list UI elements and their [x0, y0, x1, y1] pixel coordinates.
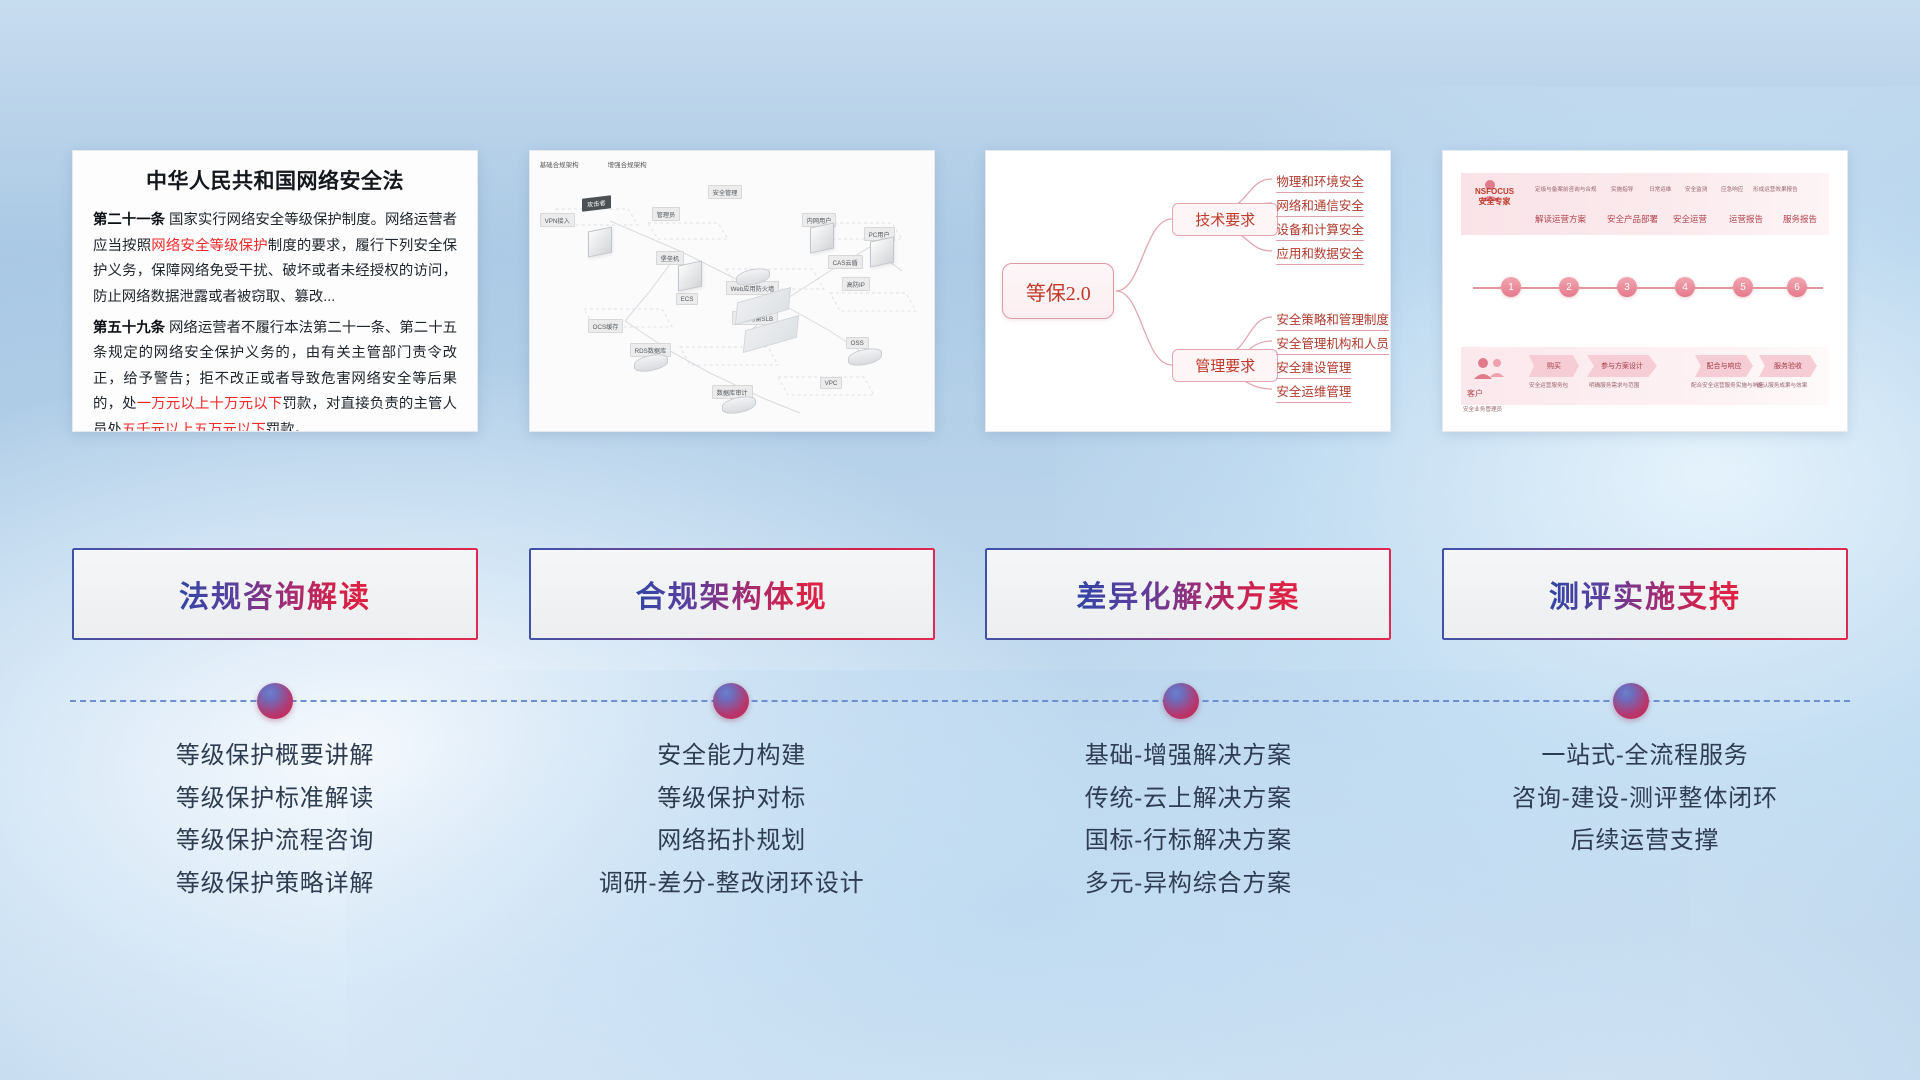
- arch-tag-ecs: ECS: [676, 293, 699, 305]
- arch-tag-security-mgmt: 安全管理: [708, 185, 743, 199]
- arch-tag-ocs: OCS缓存: [588, 319, 624, 333]
- nsfocus-chevron-accept: 服务验收: [1759, 355, 1817, 377]
- list-item[interactable]: 一站式-全流程服务: [1442, 735, 1848, 778]
- pill-assessment-support[interactable]: 测评实施支持: [1442, 548, 1848, 640]
- mindmap-leaf-mgmt-1: 安全策略和管理制度: [1276, 309, 1389, 331]
- pill-label-0: 法规咨询解读: [179, 572, 371, 616]
- nsfocus-step-number-2: 2: [1559, 277, 1579, 297]
- arch-node-3: [810, 222, 834, 253]
- mindmap-root-node: 等保2.0: [1002, 263, 1114, 319]
- arch-tag-oss: OSS: [846, 337, 869, 349]
- nsfocus-brand-line2: 安全专家: [1475, 197, 1514, 207]
- nsfocus-persona-sub: 安全业务管理员: [1463, 405, 1502, 413]
- mindmap-leaf-tech-3: 设备和计算安全: [1276, 219, 1364, 241]
- mindmap-leaf-tech-2: 网络和通信安全: [1276, 195, 1364, 217]
- arch-tag-vpc: VPC: [820, 377, 843, 389]
- mindmap-leaf-mgmt-2: 安全管理机构和人员: [1276, 333, 1389, 355]
- column-differentiated-solution: 基础-增强解决方案 传统-云上解决方案 国标-行标解决方案 多元-异构综合方案: [985, 735, 1391, 995]
- nsfocus-note-2: 配合安全运营服务实施与响应: [1691, 381, 1764, 389]
- nsfocus-chevron-buy: 购买: [1529, 355, 1579, 377]
- arch-header-basic: 基础合规架构: [540, 159, 579, 169]
- arch-tag-cas: CAS云盾: [828, 255, 863, 269]
- nsfocus-persona: 客户: [1467, 389, 1483, 399]
- service-columns: 等级保护概要讲解 等级保护标准解读 等级保护流程咨询 等级保护策略详解 安全能力…: [72, 735, 1848, 995]
- list-item[interactable]: 等级保护概要讲解: [72, 735, 478, 778]
- nsfocus-note-1: 明确服务需求与范围: [1589, 381, 1639, 389]
- nsfocus-step-number-3: 3: [1617, 277, 1637, 297]
- pill-compliance-architecture[interactable]: 合规架构体现: [529, 548, 935, 640]
- nsfocus-step-label-0: 解读运营方案: [1535, 213, 1586, 225]
- law-card-title: 中华人民共和国网络安全法: [93, 165, 457, 195]
- nsfocus-step-number-6: 6: [1787, 277, 1807, 297]
- timeline-dot-2[interactable]: [713, 683, 749, 719]
- pill-regulation-consulting[interactable]: 法规咨询解读: [72, 548, 478, 640]
- nsfocus-service-flow-card[interactable]: NSFOCUS 安全专家 定级与备案前咨询与合规 实施指导 日常运维 安全监测 …: [1442, 150, 1848, 432]
- nsfocus-step-label-2: 安全运营: [1673, 213, 1707, 225]
- nsfocus-step-label-3: 运营报告: [1729, 213, 1763, 225]
- arch-tag-vpn: VPN接入: [540, 213, 575, 227]
- compliance-architecture-card[interactable]: 基础合规架构 增强合规架构: [529, 150, 935, 432]
- nsfocus-chevron-design: 参与方案设计: [1587, 355, 1657, 377]
- column-regulation-consulting: 等级保护概要讲解 等级保护标准解读 等级保护流程咨询 等级保护策略详解: [72, 735, 478, 995]
- arch-tag-bastion: 堡垒机: [656, 251, 685, 265]
- column-compliance-architecture: 安全能力构建 等级保护对标 网络拓扑规划 调研-差分-整改闭环设计: [529, 735, 935, 995]
- arch-node-1: [588, 226, 612, 257]
- list-item[interactable]: 等级保护标准解读: [72, 778, 478, 821]
- nsfocus-note-0: 安全运营服务包: [1529, 381, 1568, 389]
- timeline-dot-1[interactable]: [257, 683, 293, 719]
- nsfocus-small-note-1: 实施指导: [1611, 185, 1633, 193]
- pill-label-1: 合规架构体现: [636, 572, 828, 616]
- nsfocus-step-number-5: 5: [1733, 277, 1753, 297]
- list-item[interactable]: 咨询-建设-测评整体闭环: [1442, 778, 1848, 821]
- law-article-59-fine-person: 五千元以上五万元以下: [122, 422, 266, 432]
- nsfocus-small-note-5: 形成运营效果报告: [1753, 185, 1798, 193]
- mindmap-branch-technical: 技术要求: [1172, 203, 1278, 236]
- nsfocus-small-note-4: 应急响应: [1721, 185, 1743, 193]
- arch-node-2: [678, 260, 702, 291]
- nsfocus-step-label-1: 安全产品部署: [1607, 213, 1658, 225]
- nsfocus-step-number-4: 4: [1675, 277, 1695, 297]
- cards-row: 中华人民共和国网络安全法 第二十一条 国家实行网络安全等级保护制度。网络运营者应…: [72, 150, 1848, 440]
- timeline-dashed-line: [70, 700, 1850, 702]
- law-article-59-number: 第五十九条: [93, 320, 169, 336]
- law-paragraph-59: 第五十九条 网络运营者不履行本法第二十一条、第二十五条规定的网络安全保护义务的，…: [93, 316, 457, 432]
- pill-label-3: 测评实施支持: [1549, 572, 1741, 616]
- mindmap-branch-management: 管理要求: [1172, 349, 1278, 382]
- nsfocus-small-note-3: 安全监测: [1685, 185, 1707, 193]
- law-paragraph-21: 第二十一条 国家实行网络安全等级保护制度。网络运营者应当按照网络安全等级保护制度…: [93, 208, 457, 311]
- cybersecurity-law-card[interactable]: 中华人民共和国网络安全法 第二十一条 国家实行网络安全等级保护制度。网络运营者应…: [72, 150, 478, 432]
- nsfocus-small-note-0: 定级与备案前咨询与合规: [1535, 185, 1597, 193]
- arch-tag-admin: 管理员: [652, 207, 681, 221]
- list-item[interactable]: 调研-差分-整改闭环设计: [529, 863, 935, 906]
- arch-tag-gaofang: 高防IP: [842, 277, 870, 291]
- nsfocus-brand-line1: NSFOCUS: [1475, 187, 1514, 197]
- mindmap-leaf-mgmt-4: 安全运维管理: [1276, 381, 1351, 403]
- arch-node-4: [870, 236, 894, 267]
- pill-label-2: 差异化解决方案: [1076, 572, 1300, 616]
- nsfocus-chevron-respond: 配合与响应: [1695, 355, 1753, 377]
- pill-buttons-row: 法规咨询解读 合规架构体现 差异化解决方案 测评实施支持: [72, 548, 1848, 640]
- dengbao-mindmap-card[interactable]: 等保2.0 技术要求 管理要求 物理和环境安全 网络和通信安全 设备和计算安全 …: [985, 150, 1391, 432]
- nsfocus-persona-label: 客户: [1467, 389, 1483, 399]
- list-item[interactable]: 网络拓扑规划: [529, 820, 935, 863]
- list-item[interactable]: 后续运营支撑: [1442, 820, 1848, 863]
- mindmap-leaf-tech-4: 应用和数据安全: [1276, 243, 1364, 265]
- list-item[interactable]: 多元-异构综合方案: [985, 863, 1391, 906]
- list-item[interactable]: 基础-增强解决方案: [985, 735, 1391, 778]
- nsfocus-step-label-4: 服务报告: [1783, 213, 1817, 225]
- list-item[interactable]: 等级保护流程咨询: [72, 820, 478, 863]
- list-item[interactable]: 传统-云上解决方案: [985, 778, 1391, 821]
- law-article-21-number: 第二十一条: [93, 212, 169, 228]
- nsfocus-step-number-1: 1: [1501, 277, 1521, 297]
- timeline-dot-3[interactable]: [1163, 683, 1199, 719]
- law-article-59-text-c: 罚款。: [266, 422, 309, 432]
- nsfocus-note-3: 确认服务成果与效果: [1757, 381, 1807, 389]
- nsfocus-small-note-2: 日常运维: [1649, 185, 1671, 193]
- mindmap-leaf-tech-1: 物理和环境安全: [1276, 171, 1364, 193]
- list-item[interactable]: 等级保护对标: [529, 778, 935, 821]
- arch-header-enhanced: 增强合规架构: [608, 159, 647, 169]
- pill-differentiated-solution[interactable]: 差异化解决方案: [985, 548, 1391, 640]
- list-item[interactable]: 安全能力构建: [529, 735, 935, 778]
- law-article-59-fine-company: 一万元以上十万元以下: [137, 396, 283, 412]
- list-item[interactable]: 等级保护策略详解: [72, 863, 478, 906]
- mindmap-leaf-mgmt-3: 安全建设管理: [1276, 357, 1351, 379]
- list-item[interactable]: 国标-行标解决方案: [985, 820, 1391, 863]
- nsfocus-brand: NSFOCUS 安全专家: [1475, 187, 1514, 207]
- timeline-dot-4[interactable]: [1613, 683, 1649, 719]
- law-article-21-highlight: 网络安全等级保护: [151, 238, 268, 254]
- column-assessment-support: 一站式-全流程服务 咨询-建设-测评整体闭环 后续运营支撑: [1442, 735, 1848, 995]
